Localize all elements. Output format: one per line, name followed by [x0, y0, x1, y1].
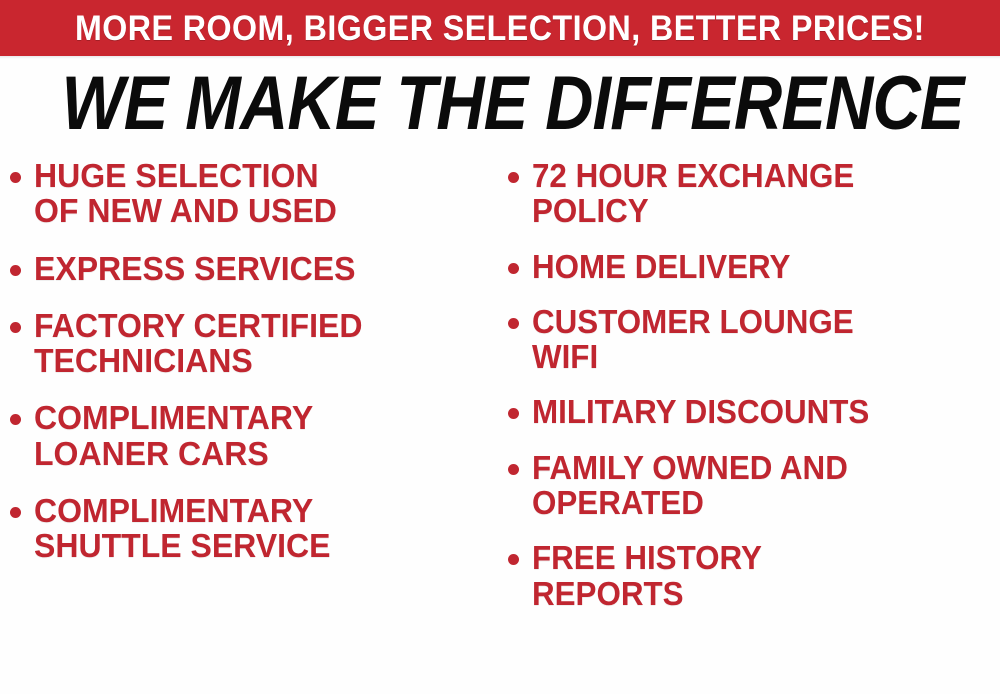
banner-headline-text: MORE ROOM, BIGGER SELECTION, BETTER PRIC…	[75, 11, 925, 46]
page-title-text: WE MAKE THE DIFFERENCE	[62, 66, 964, 142]
features-column-left: HUGE SELECTION OF NEW AND USED EXPRESS S…	[10, 158, 500, 586]
bullet-dot-icon	[10, 322, 21, 333]
bullet-dot-icon	[10, 507, 21, 518]
top-banner: MORE ROOM, BIGGER SELECTION, BETTER PRIC…	[0, 0, 1000, 56]
list-item: COMPLIMENTARY SHUTTLE SERVICE	[10, 493, 500, 564]
list-item-label: COMPLIMENTARY SHUTTLE SERVICE	[34, 493, 486, 564]
promotional-poster: MORE ROOM, BIGGER SELECTION, BETTER PRIC…	[0, 0, 1000, 694]
page-title: WE MAKE THE DIFFERENCE	[0, 66, 1000, 142]
list-item: FAMILY OWNED AND OPERATED	[508, 450, 1000, 521]
list-item-label: 72 HOUR EXCHANGE POLICY	[532, 158, 977, 229]
list-item: MILITARY DISCOUNTS	[508, 394, 1000, 429]
list-item: HOME DELIVERY	[508, 249, 1000, 284]
list-item-label: FAMILY OWNED AND OPERATED	[532, 450, 977, 521]
list-item: FREE HISTORY REPORTS	[508, 540, 1000, 611]
list-item: EXPRESS SERVICES	[10, 251, 500, 286]
bullet-dot-icon	[508, 172, 519, 183]
list-item: FACTORY CERTIFIED TECHNICIANS	[10, 308, 500, 379]
list-item-label: COMPLIMENTARY LOANER CARS	[34, 400, 486, 471]
list-item-label: MILITARY DISCOUNTS	[532, 394, 977, 429]
bullet-dot-icon	[508, 464, 519, 475]
list-item-label: EXPRESS SERVICES	[34, 251, 486, 286]
bullet-dot-icon	[508, 408, 519, 419]
list-item-label: FREE HISTORY REPORTS	[532, 540, 977, 611]
list-item: HUGE SELECTION OF NEW AND USED	[10, 158, 500, 229]
bullet-dot-icon	[10, 414, 21, 425]
list-item: CUSTOMER LOUNGE WIFI	[508, 304, 1000, 375]
list-item-label: HUGE SELECTION OF NEW AND USED	[34, 158, 486, 229]
features-columns: HUGE SELECTION OF NEW AND USED EXPRESS S…	[0, 158, 1000, 688]
bullet-dot-icon	[10, 265, 21, 276]
list-item-label: HOME DELIVERY	[532, 249, 977, 284]
bullet-dot-icon	[508, 263, 519, 274]
features-column-right: 72 HOUR EXCHANGE POLICY HOME DELIVERY CU…	[508, 158, 1000, 631]
bullet-dot-icon	[508, 318, 519, 329]
list-item: COMPLIMENTARY LOANER CARS	[10, 400, 500, 471]
list-item-label: FACTORY CERTIFIED TECHNICIANS	[34, 308, 486, 379]
banner-underline-divider	[0, 56, 1000, 60]
list-item-label: CUSTOMER LOUNGE WIFI	[532, 304, 977, 375]
list-item: 72 HOUR EXCHANGE POLICY	[508, 158, 1000, 229]
bullet-dot-icon	[508, 554, 519, 565]
bullet-dot-icon	[10, 172, 21, 183]
